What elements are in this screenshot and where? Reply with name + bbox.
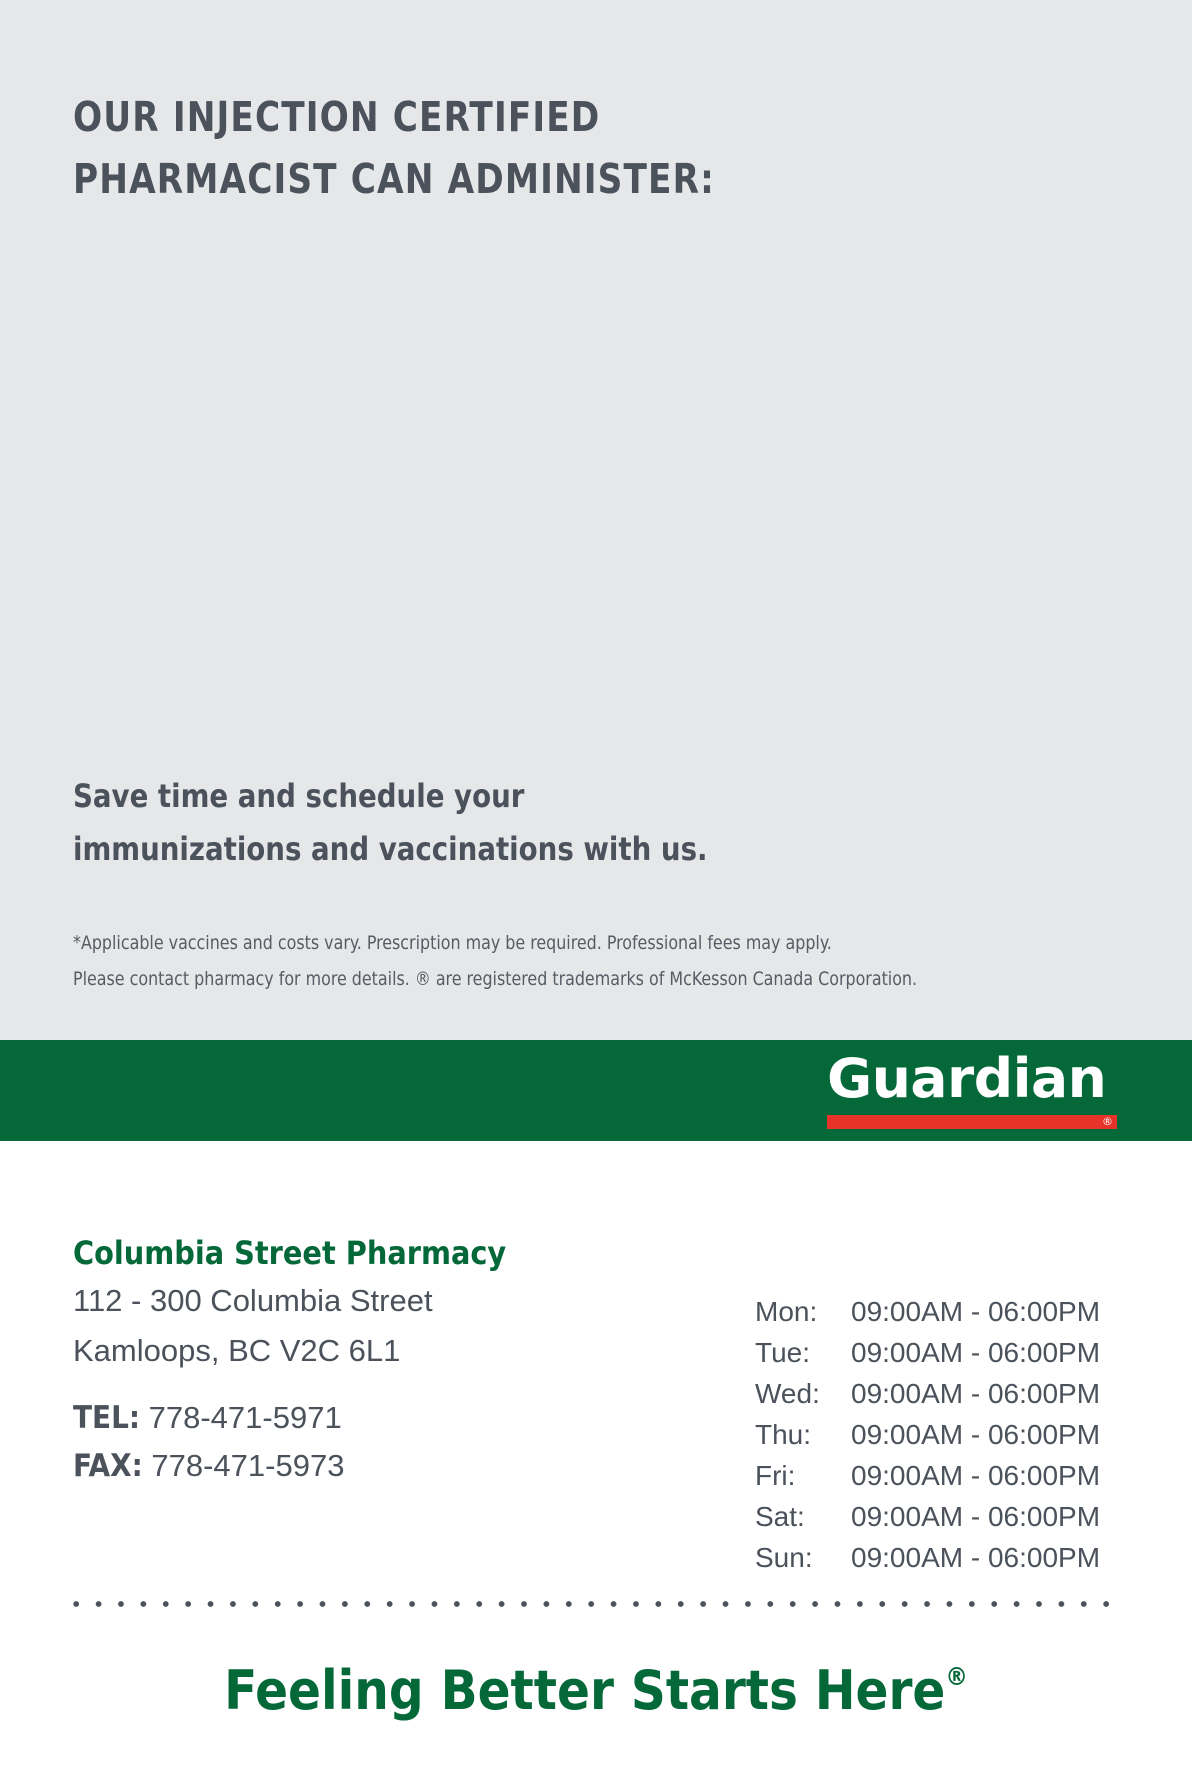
hours-time-value: 09:00AM - 06:00PM xyxy=(851,1332,1135,1373)
hours-time-value: 09:00AM - 06:00PM xyxy=(851,1414,1135,1455)
store-telephone: TEL: 778-471-5971 xyxy=(73,1394,713,1442)
table-row: Sun: 09:00AM - 06:00PM xyxy=(755,1537,1135,1578)
hours-time-value: 09:00AM - 06:00PM xyxy=(851,1455,1135,1496)
page-title: OUR INJECTION CERTIFIED PHARMACIST CAN A… xyxy=(73,86,873,210)
hours-time-value: 09:00AM - 06:00PM xyxy=(851,1537,1135,1578)
store-fax: FAX: 778-471-5973 xyxy=(73,1442,713,1490)
guardian-wordmark: Guardian xyxy=(827,1046,1123,1112)
store-address-line-1: 112 - 300 Columbia Street xyxy=(73,1276,713,1326)
telephone-label: TEL: xyxy=(73,1400,140,1436)
store-info-panel: Columbia Street Pharmacy 112 - 300 Colum… xyxy=(0,1141,1192,1785)
store-contact: TEL: 778-471-5971 FAX: 778-471-5973 xyxy=(73,1394,713,1490)
telephone-value[interactable]: 778-471-5971 xyxy=(149,1400,342,1435)
table-row: Fri: 09:00AM - 06:00PM xyxy=(755,1455,1135,1496)
headline-line-1: OUR INJECTION CERTIFIED xyxy=(73,86,873,148)
table-row: Wed: 09:00AM - 06:00PM xyxy=(755,1373,1135,1414)
fax-label: FAX: xyxy=(73,1448,143,1484)
fax-value: 778-471-5973 xyxy=(151,1448,344,1483)
guardian-underline-bar xyxy=(827,1115,1117,1129)
promo-panel: OUR INJECTION CERTIFIED PHARMACIST CAN A… xyxy=(0,0,1192,1040)
hours-time-value: 09:00AM - 06:00PM xyxy=(851,1373,1135,1414)
promo-subheading: Save time and schedule your immunization… xyxy=(73,770,937,876)
hours-time-value: 09:00AM - 06:00PM xyxy=(851,1291,1135,1332)
subheading-line-2: immunizations and vaccinations with us. xyxy=(73,823,937,876)
disclaimer-line-2: Please contact pharmacy for more details… xyxy=(73,961,1059,997)
hours-day-label: Mon: xyxy=(755,1291,851,1332)
table-row: Tue: 09:00AM - 06:00PM xyxy=(755,1332,1135,1373)
store-hours-table: Mon: 09:00AM - 06:00PM Tue: 09:00AM - 06… xyxy=(755,1291,1135,1578)
table-row: Sat: 09:00AM - 06:00PM xyxy=(755,1496,1135,1537)
hours-day-label: Thu: xyxy=(755,1414,851,1455)
hours-day-label: Fri: xyxy=(755,1455,851,1496)
hours-day-label: Sat: xyxy=(755,1496,851,1537)
table-row: Mon: 09:00AM - 06:00PM xyxy=(755,1291,1135,1332)
vaccine-list-placeholder xyxy=(73,210,1119,750)
brand-tagline: Feeling Better Starts Here® xyxy=(0,1638,1192,1730)
subheading-line-1: Save time and schedule your xyxy=(73,770,937,823)
dotted-divider xyxy=(65,1600,1120,1608)
tagline-registered-icon: ® xyxy=(945,1662,968,1691)
store-name: Columbia Street Pharmacy xyxy=(73,1230,713,1276)
hours-day-label: Wed: xyxy=(755,1373,851,1414)
hours-day-label: Tue: xyxy=(755,1332,851,1373)
tagline-text: Feeling Better Starts Here xyxy=(224,1659,945,1722)
disclaimer-line-1: *Applicable vaccines and costs vary. Pre… xyxy=(73,925,1059,961)
hours-day-label: Sun: xyxy=(755,1537,851,1578)
hours-time-value: 09:00AM - 06:00PM xyxy=(851,1496,1135,1537)
store-address-line-2: Kamloops, BC V2C 6L1 xyxy=(73,1326,713,1376)
table-row: Thu: 09:00AM - 06:00PM xyxy=(755,1414,1135,1455)
guardian-logo: Guardian ® xyxy=(827,1046,1117,1136)
disclaimer-text: *Applicable vaccines and costs vary. Pre… xyxy=(73,925,1059,997)
headline-line-2: PHARMACIST CAN ADMINISTER: xyxy=(73,148,873,210)
store-details: Columbia Street Pharmacy 112 - 300 Colum… xyxy=(73,1230,713,1490)
brand-banner: Guardian ® xyxy=(0,1040,1192,1141)
registered-trademark-icon: ® xyxy=(1102,1114,1113,1129)
